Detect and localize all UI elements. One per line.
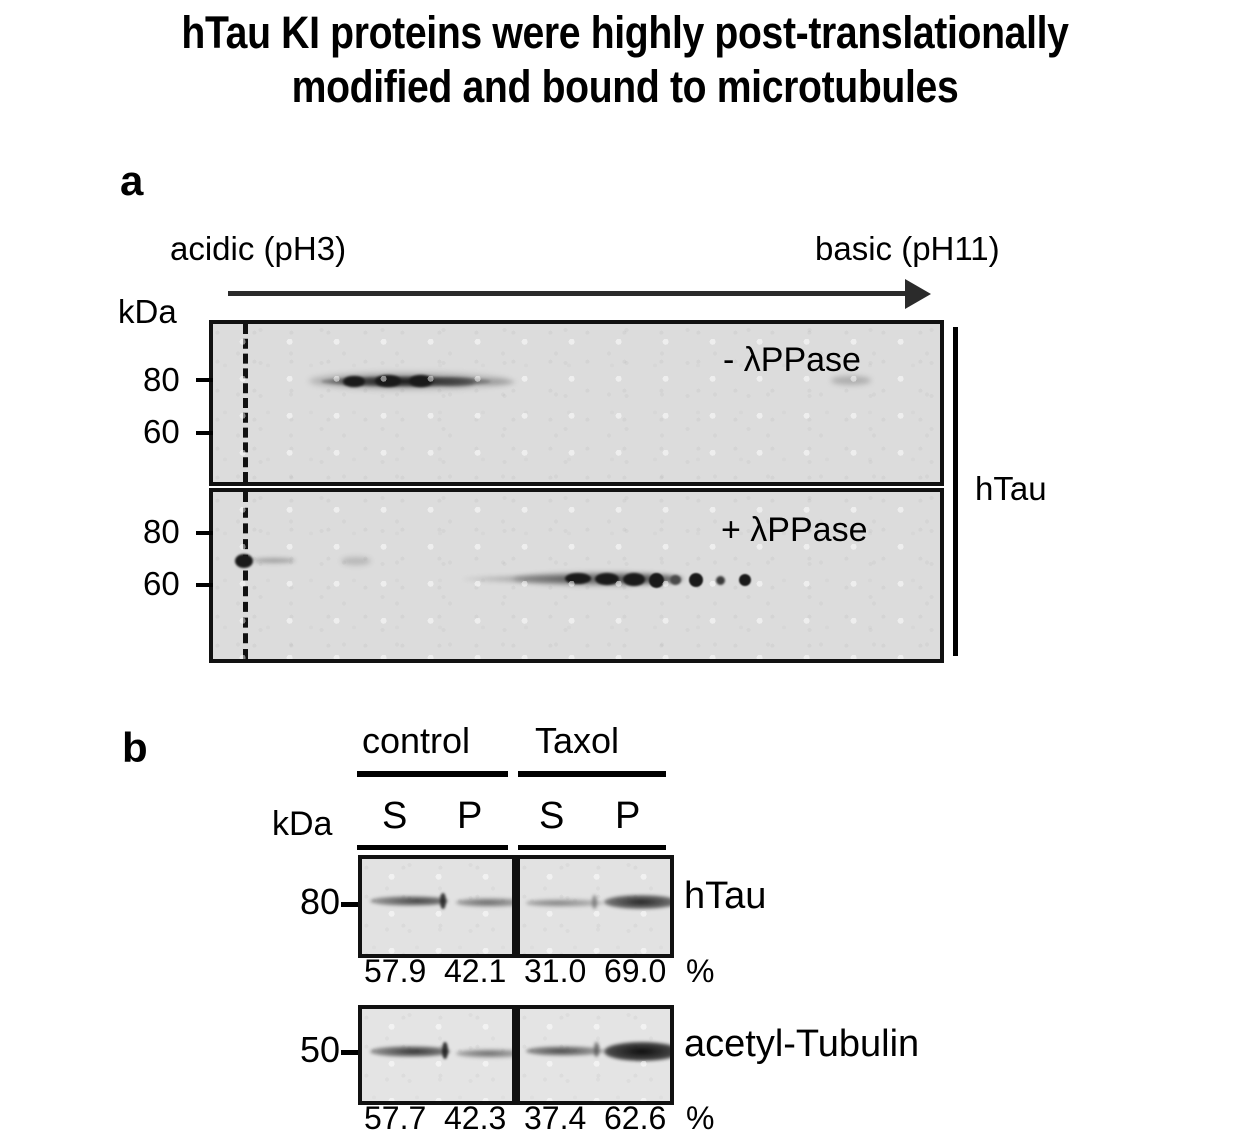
panel-b-blot-tubulin-control <box>358 1005 516 1105</box>
ph-gradient-arrow-line <box>228 291 910 296</box>
panel-b-percent-tubulin-taxol-p: 62.6 <box>604 1103 666 1133</box>
blot-spot-faint <box>475 379 515 385</box>
blot-spot-faint <box>341 557 371 565</box>
panel-b-lane-underline-taxol <box>518 845 666 850</box>
band-htau-control-p <box>456 898 516 907</box>
blot-spot <box>343 376 365 387</box>
mw-tick-80-panel-b <box>341 902 359 907</box>
blot-spot-faint <box>441 378 475 386</box>
panel-b-letter: b <box>122 727 148 769</box>
panel-b-mw-marker-50: 50 <box>300 1033 340 1066</box>
panel-a-axis-left-label: acidic (pH3) <box>170 232 346 265</box>
panel-b-group-underline-control <box>357 771 508 777</box>
panel-a-mw-marker-60-top: 60 <box>143 415 180 448</box>
panel-b-percent-htau-control-p: 42.1 <box>444 956 506 986</box>
blot-spot <box>623 573 645 586</box>
panel-a-blot-minus-ppase: - λPPase <box>209 320 944 486</box>
panel-b-lane-label-control-s: S <box>382 800 407 833</box>
figure-title-line-2: modified and bound to microtubules <box>81 60 1169 114</box>
panel-b-blot-tubulin-taxol <box>516 1005 674 1105</box>
blot-spot <box>689 573 703 587</box>
blot-spot <box>375 375 401 387</box>
panel-b-row-label-htau: hTau <box>684 880 766 913</box>
blot-spot-acidic <box>235 554 253 568</box>
reference-dashed-line-bottom <box>243 492 248 659</box>
panel-a-kda-label: kDa <box>118 295 177 328</box>
blot-spot <box>595 573 619 585</box>
panel-b-lane-label-control-p: P <box>457 800 482 833</box>
panel-b-lane-label-taxol-p: P <box>615 800 640 833</box>
band-tubulin-control-s-edge <box>442 1042 448 1059</box>
panel-b-percent-tubulin-control-s: 57.7 <box>364 1103 426 1133</box>
panel-a-blot-plus-ppase: + λPPase <box>209 488 944 663</box>
panel-a-bracket-label: hTau <box>975 472 1047 505</box>
blot-spot <box>670 575 681 585</box>
blot-spot <box>649 573 664 588</box>
panel-a-letter: a <box>120 160 143 202</box>
panel-b-mw-marker-80: 80 <box>300 885 340 918</box>
figure-root: hTau KI proteins were highly post-transl… <box>0 0 1250 1137</box>
mw-tick-80-bottom <box>196 531 213 535</box>
blot-spot <box>565 573 591 584</box>
panel-a-condition-label-minus: - λPPase <box>723 344 861 377</box>
mw-tick-60-bottom <box>196 583 213 587</box>
panel-a-mw-marker-80-bottom: 80 <box>143 515 180 548</box>
reference-dashed-line-top <box>243 324 248 482</box>
panel-b-kda-label: kDa <box>272 808 332 841</box>
panel-b-lane-underline-control <box>357 845 508 850</box>
band-tubulin-control-p <box>456 1049 516 1058</box>
panel-b-group-label-taxol: Taxol <box>535 724 619 757</box>
mw-tick-80-top <box>196 378 213 382</box>
panel-a-bracket <box>953 327 958 656</box>
blot-spot <box>739 574 751 586</box>
panel-b-percent-htau-taxol-s: 31.0 <box>524 956 586 986</box>
blot-spot-acidic-tail <box>253 558 295 563</box>
band-htau-control-s-edge <box>440 893 446 909</box>
panel-a-condition-label-plus: + λPPase <box>721 514 867 547</box>
panel-b-group-underline-taxol <box>518 771 666 777</box>
band-tubulin-taxol-s <box>526 1046 604 1056</box>
panel-a-mw-marker-80-top: 80 <box>143 363 180 396</box>
panel-b-blot-htau-control <box>358 855 516 958</box>
panel-b-lane-label-taxol-s: S <box>539 800 564 833</box>
mw-tick-60-top <box>196 431 213 435</box>
panel-a-mw-marker-60-bottom: 60 <box>143 567 180 600</box>
panel-b-blot-htau-taxol <box>516 855 674 958</box>
panel-a-axis-right-label: basic (pH11) <box>815 232 1000 265</box>
figure-title: hTau KI proteins were highly post-transl… <box>81 6 1169 114</box>
band-tubulin-taxol-s-edge <box>594 1042 599 1057</box>
right-arrow-icon <box>905 279 931 309</box>
band-htau-taxol-p <box>604 895 674 909</box>
band-htau-taxol-s-edge <box>592 895 597 909</box>
mw-tick-50-panel-b <box>341 1050 359 1055</box>
band-tubulin-control-s <box>370 1046 450 1057</box>
panel-b-percent-unit-htau: % <box>686 956 714 986</box>
panel-b-percent-htau-taxol-p: 69.0 <box>604 956 666 986</box>
panel-b-percent-tubulin-control-p: 42.3 <box>444 1103 506 1133</box>
panel-b-row-label-tubulin: acetyl-Tubulin <box>684 1028 919 1061</box>
blot-spot <box>716 576 725 585</box>
band-tubulin-taxol-p <box>604 1042 674 1061</box>
blot-spot <box>409 375 433 387</box>
figure-title-line-1: hTau KI proteins were highly post-transl… <box>181 7 1068 58</box>
panel-b-percent-unit-tubulin: % <box>686 1103 714 1133</box>
band-htau-control-s <box>370 896 448 906</box>
panel-b-percent-tubulin-taxol-s: 37.4 <box>524 1103 586 1133</box>
panel-b-percent-htau-control-s: 57.9 <box>364 956 426 986</box>
panel-b-group-label-control: control <box>362 724 470 757</box>
